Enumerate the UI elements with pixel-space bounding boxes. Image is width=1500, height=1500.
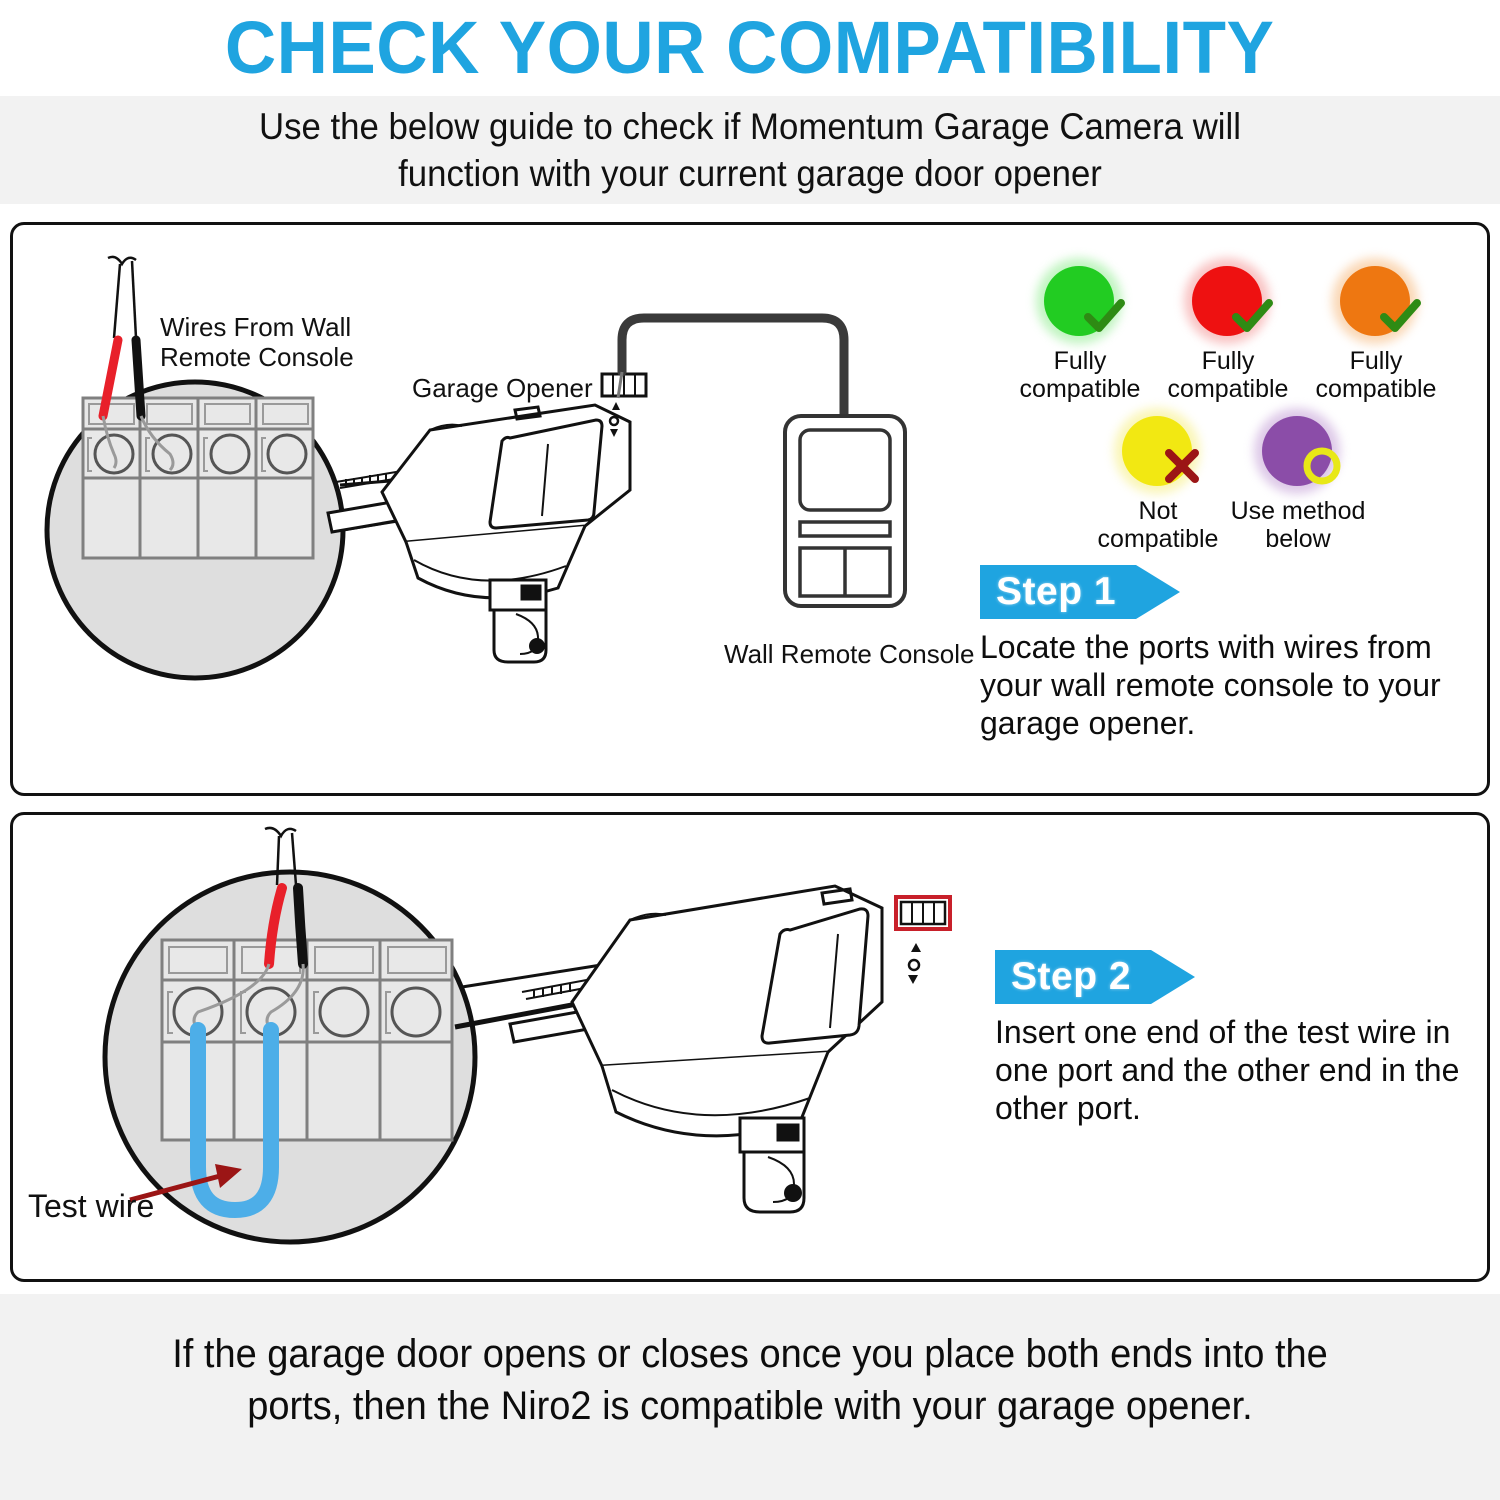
footer-line1: If the garage door opens or closes once … [172, 1332, 1328, 1376]
label-garage-opener: Garage Opener [412, 374, 593, 404]
step2-diagram [10, 812, 1010, 1282]
legend-badge-orange [1328, 262, 1424, 346]
legend-label-orange: Fullycompatible [1301, 348, 1451, 403]
terminal-block-step1 [83, 398, 313, 558]
legend-item-red: Fullycompatible [1153, 262, 1303, 403]
step2-instruction-block: Step 2 Insert one end of the test wire i… [995, 950, 1475, 1127]
step1-tag-label: Step 1 [996, 570, 1116, 614]
step1-instruction-block: Step 1 Locate the ports with wires from … [980, 565, 1460, 742]
label-wall-remote-console: Wall Remote Console [724, 640, 974, 670]
header-title-band: CHECK YOUR COMPATIBILITY [0, 0, 1500, 96]
black-wire [136, 340, 141, 416]
wall-remote-console-step1 [785, 416, 905, 606]
footer-band: If the garage door opens or closes once … [0, 1294, 1500, 1500]
legend-label-red: Fullycompatible [1153, 348, 1303, 403]
footer-text: If the garage door opens or closes once … [66, 1328, 1434, 1432]
garage-opener-step1 [328, 405, 630, 662]
garage-opener-step2 [510, 886, 882, 1212]
black-wire [298, 888, 303, 964]
label-wires-from-wall-remote: Wires From Wall Remote Console [160, 313, 380, 373]
opener-terminal-connector-step2 [896, 897, 950, 929]
step2-tag-label: Step 2 [1011, 955, 1131, 999]
footer-line2: ports, then the Niro2 is compatible with… [247, 1384, 1252, 1428]
legend-item-green: Fullycompatible [1005, 262, 1155, 403]
opener-terminal-connector-step1 [602, 374, 646, 396]
opener-light-lens [490, 580, 546, 662]
label-test-wire: Test wire [28, 1188, 154, 1225]
legend-badge-yellow [1110, 412, 1206, 496]
header-subtitle-band: Use the below guide to check if Momentum… [0, 96, 1500, 204]
opener-light-lens-2 [740, 1118, 804, 1212]
step2-tag: Step 2 [995, 950, 1195, 1004]
page-subtitle: Use the below guide to check if Momentum… [92, 103, 1408, 198]
step1-tag-wrap: Step 1 [980, 565, 1190, 623]
compatibility-legend: Fullycompatible Fullycompatible Fullycom… [1005, 262, 1475, 562]
step2-tag-wrap: Step 2 [995, 950, 1205, 1008]
page-subtitle-line2: function with your current garage door o… [398, 153, 1102, 194]
step2-description: Insert one end of the test wire in one p… [995, 1014, 1465, 1127]
opener-control-glyphs-step2 [908, 943, 921, 984]
step1-tag: Step 1 [980, 565, 1180, 619]
legend-label-yellow: Notcompatible [1083, 498, 1233, 553]
check-icon [1378, 294, 1422, 338]
legend-label-purple: Use methodbelow [1223, 498, 1373, 553]
ring-icon [1300, 444, 1344, 488]
legend-label-green: Fullycompatible [1005, 348, 1155, 403]
check-icon [1230, 294, 1274, 338]
page-title: CHECK YOUR COMPATIBILITY [225, 11, 1275, 85]
legend-item-yellow: Notcompatible [1083, 412, 1233, 553]
bell-wire-cable [622, 318, 844, 416]
legend-item-purple: Use methodbelow [1223, 412, 1373, 553]
cross-icon [1160, 444, 1204, 488]
legend-item-orange: Fullycompatible [1301, 262, 1451, 403]
legend-badge-purple [1250, 412, 1346, 496]
legend-badge-red [1180, 262, 1276, 346]
page-subtitle-line1: Use the below guide to check if Momentum… [259, 106, 1241, 147]
step1-description: Locate the ports with wires from your wa… [980, 629, 1450, 742]
check-icon [1082, 294, 1126, 338]
legend-badge-green [1032, 262, 1128, 346]
